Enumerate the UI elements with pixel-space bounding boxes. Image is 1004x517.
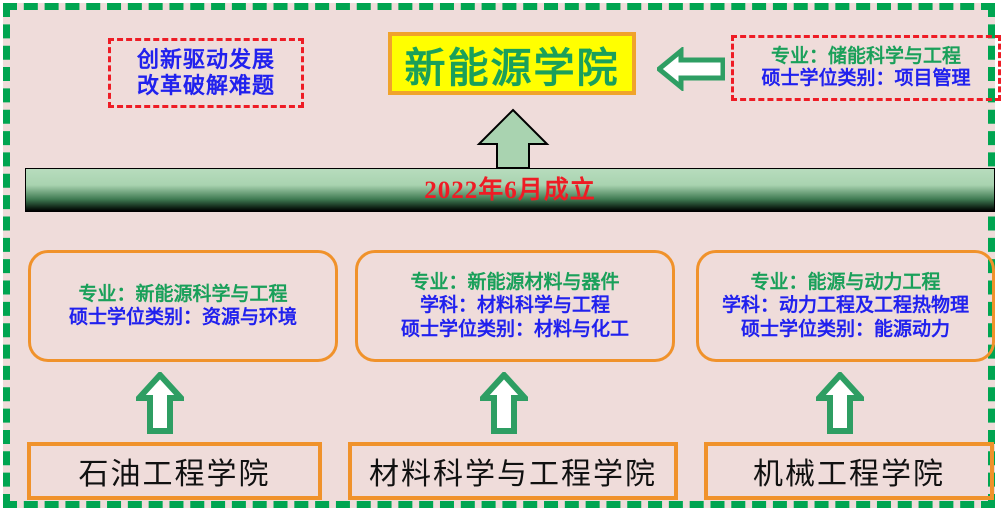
program-box-1: 专业：新能源科学与工程 硕士学位类别：资源与环境 [28, 250, 338, 362]
storage-energy-program-box: 专业：储能科学与工程 硕士学位类别：项目管理 [731, 35, 1001, 101]
school-box-3: 机械工程学院 [704, 442, 994, 500]
program-box-2: 专业：新能源材料与器件 学科：材料科学与工程 硕士学位类别：材料与化工 [355, 250, 675, 362]
slogan-line-1: 创新驱动发展 [137, 47, 275, 73]
college-title-box: 新能源学院 [388, 32, 636, 95]
program-3-major: 专业：能源与动力工程 [750, 271, 940, 294]
slogan-box: 创新驱动发展 改革破解难题 [108, 38, 304, 108]
program-1-degree: 硕士学位类别：资源与环境 [69, 306, 297, 329]
program-2-degree: 硕士学位类别：材料与化工 [401, 318, 629, 341]
program-box-3: 专业：能源与动力工程 学科：动力工程及工程热物理 硕士学位类别：能源动力 [696, 250, 995, 362]
arrow-up-icon [136, 372, 184, 434]
program-degree: 硕士学位类别：项目管理 [761, 68, 970, 90]
arrow-up-icon [475, 108, 551, 170]
school-2-name: 材料科学与工程学院 [369, 449, 657, 493]
program-3-degree: 硕士学位类别：能源动力 [741, 318, 950, 341]
school-box-1: 石油工程学院 [27, 442, 322, 500]
outer-dashed-frame: 创新驱动发展 改革破解难题 新能源学院 专业：储能科学与工程 硕士学位类别：项目… [3, 3, 995, 508]
diagram-canvas: 创新驱动发展 改革破解难题 新能源学院 专业：储能科学与工程 硕士学位类别：项目… [0, 0, 1004, 517]
slogan-line-2: 改革破解难题 [137, 73, 275, 99]
arrow-up-icon [480, 372, 528, 434]
page-title: 新能源学院 [405, 34, 620, 94]
founding-banner: 2022年6月成立 [25, 168, 995, 212]
school-box-2: 材料科学与工程学院 [348, 442, 678, 500]
school-1-name: 石油工程学院 [79, 449, 271, 493]
founding-date-text: 2022年6月成立 [424, 170, 596, 206]
program-2-major: 专业：新能源材料与器件 [410, 271, 619, 294]
arrow-left-icon [657, 47, 725, 91]
program-major: 专业：储能科学与工程 [771, 46, 961, 68]
school-3-name: 机械工程学院 [753, 449, 945, 493]
program-2-discipline: 学科：材料科学与工程 [420, 294, 610, 317]
program-1-major: 专业：新能源科学与工程 [78, 283, 287, 306]
arrow-up-icon [816, 372, 864, 434]
program-3-discipline: 学科：动力工程及工程热物理 [722, 294, 969, 317]
